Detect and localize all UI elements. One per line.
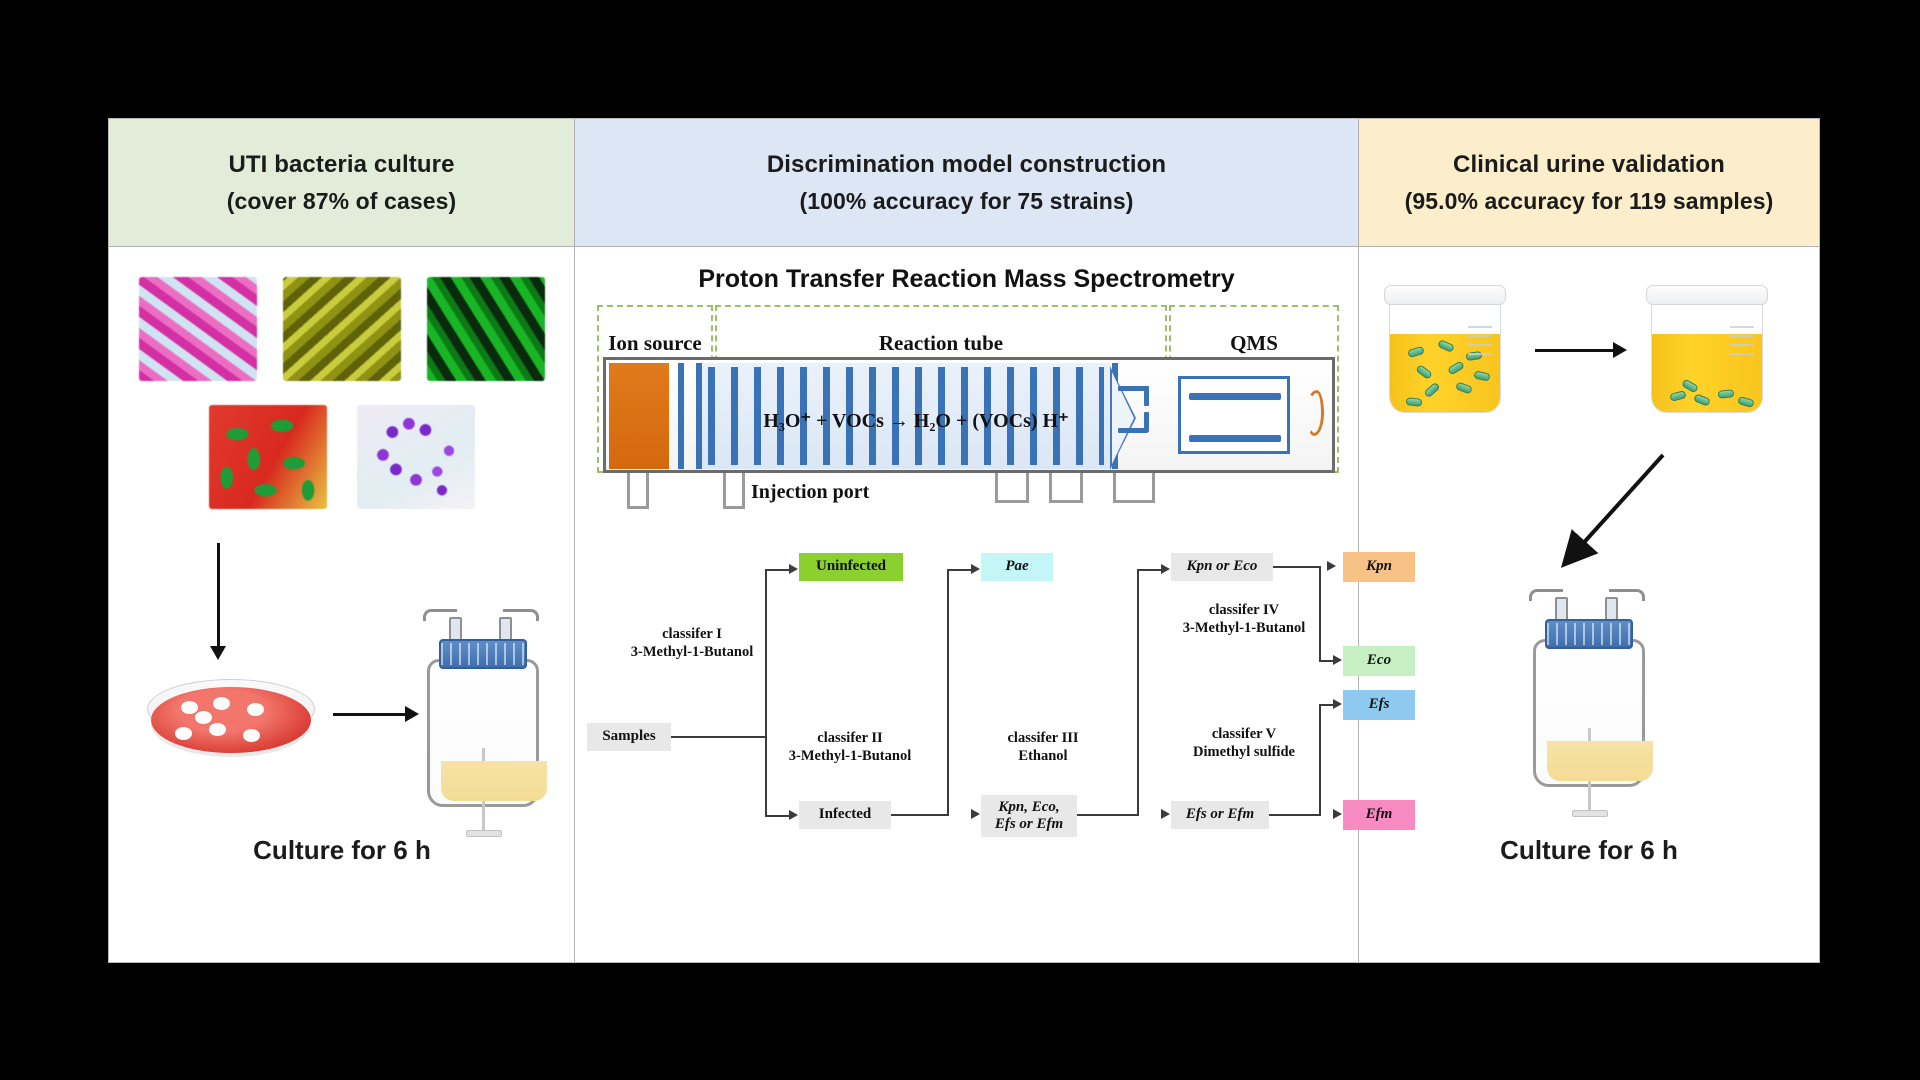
panel-body-left: Culture for 6 h: [109, 247, 574, 962]
node-kpn-eco-efs-efm: Kpn, Eco, Efs or Efm: [981, 795, 1077, 837]
arrowhead-efm: [1333, 809, 1342, 819]
panel-title-mid: Discrimination model construction: [767, 151, 1166, 179]
instrument-housing: H₃O⁺ + VOCs → H₂O + (VOCs) H⁺: [603, 357, 1335, 473]
ptrms-schematic: Ion source Reaction tube QMS H₃O⁺ + VOCs…: [597, 305, 1339, 505]
region-label-reaction-tube: Reaction tube: [717, 331, 1165, 356]
classifier-3-name: classifer III: [945, 729, 1141, 747]
caption-culture-right: Culture for 6 h: [1359, 835, 1819, 866]
micrograph-row-bottom: [127, 405, 557, 509]
node-pae: Pae: [981, 553, 1053, 581]
quad-rod-bottom: [1189, 435, 1281, 442]
injection-port-label: Injection port: [751, 481, 869, 504]
bottle-body-2: [1533, 639, 1645, 787]
classifier-5-marker: Dimethyl sulfide: [1159, 743, 1329, 761]
classifier-3-label: classifer III Ethanol: [945, 729, 1141, 765]
classifier-2-label: classifer II 3-Methyl-1-Butanol: [757, 729, 943, 765]
instrument-leg-5: [1113, 473, 1155, 503]
classifier-1-name: classifer I: [617, 625, 767, 643]
edge-c2-to-pae: [947, 569, 973, 571]
bottle-body: [427, 659, 539, 807]
arrowhead-pae: [971, 564, 980, 574]
edge-fourgroup-trunk: [1077, 814, 1139, 816]
classifier-2-name: classifer II: [757, 729, 943, 747]
edge-c5-vertical: [1319, 704, 1321, 816]
edge-kpneco-trunk: [1273, 566, 1321, 568]
panel-title-left: UTI bacteria culture: [228, 151, 454, 179]
bottle-cap-ridges-2: [1547, 623, 1631, 645]
node-kpn-or-eco: Kpn or Eco: [1171, 553, 1273, 581]
cup-graduation-ticks-1: [1468, 326, 1492, 360]
arrowhead-eco: [1333, 655, 1342, 665]
region-label-qms: QMS: [1171, 331, 1337, 356]
classifier-4-label: classifer IV 3-Methyl-1-Butanol: [1159, 601, 1329, 637]
olive-rods-micrograph: [283, 277, 401, 381]
purple-cocci-micrograph: [357, 405, 475, 509]
instrument-leg-2: [723, 473, 745, 509]
bottle-cap-ridges: [441, 643, 525, 665]
panel-body-mid: Proton Transfer Reaction Mass Spectromet…: [575, 247, 1358, 962]
four-group-line-1: Kpn, Eco,: [998, 799, 1059, 816]
right-arrow-icon-validation: [1535, 349, 1615, 352]
micrograph-row-top: [127, 277, 557, 381]
bottle-liquid-2: [1547, 741, 1653, 781]
gas-washing-bottle-left: [419, 597, 547, 807]
bottle-liquid: [441, 761, 547, 801]
right-arrow-icon: [333, 713, 407, 716]
arrowhead-four-group: [971, 809, 980, 819]
edge-c3-vertical: [1137, 569, 1139, 816]
magenta-rods-micrograph: [139, 277, 257, 381]
node-efs-or-efm: Efs or Efm: [1171, 801, 1269, 829]
petri-dish: [151, 677, 311, 759]
electrode-plate-1: [678, 363, 684, 469]
quadrupole-mass-filter: [1178, 376, 1290, 454]
green-rods-micrograph: [427, 277, 545, 381]
instrument-leg-4: [1049, 473, 1083, 503]
panel-header-left: UTI bacteria culture (cover 87% of cases…: [109, 119, 574, 247]
edge-c1-to-infected: [765, 815, 791, 817]
ion-source-block: [609, 363, 669, 469]
edge-infected-trunk: [891, 814, 949, 816]
classifier-5-label: classifer V Dimethyl sulfide: [1159, 725, 1329, 761]
arrowhead-kpn-or-eco: [1161, 564, 1170, 574]
ion-optics-lens: [1118, 372, 1160, 460]
panel-body-right: Culture for 6 h: [1359, 247, 1819, 962]
urine-cup-vessel-1: [1389, 299, 1501, 413]
down-arrow-icon: [217, 543, 220, 647]
classifier-4-marker: 3-Methyl-1-Butanol: [1159, 619, 1329, 637]
edge-efsefm-trunk: [1269, 814, 1321, 816]
classifier-4-name: classifer IV: [1159, 601, 1329, 619]
quad-rod-top: [1189, 393, 1281, 400]
urine-cup-before: [1389, 285, 1501, 413]
caption-culture-left: Culture for 6 h: [109, 835, 575, 866]
urine-cup-rim-1: [1384, 285, 1506, 305]
region-label-ion-source: Ion source: [599, 331, 711, 356]
instrument-leg-3: [995, 473, 1029, 503]
panel-subtitle-right: (95.0% accuracy for 119 samples): [1405, 188, 1774, 215]
gas-washing-bottle-right: [1525, 577, 1653, 787]
arrowhead-efs-or-efm: [1161, 809, 1170, 819]
urine-cup-vessel-2: [1651, 299, 1763, 413]
graphical-abstract: UTI bacteria culture (cover 87% of cases…: [108, 118, 1820, 963]
node-infected: Infected: [799, 801, 891, 829]
edge-c4-vertical: [1319, 566, 1321, 662]
green-diplococci-micrograph: [209, 405, 327, 509]
node-uninfected: Uninfected: [799, 553, 903, 581]
edge-c1-to-uninfected: [765, 569, 791, 571]
cup-graduation-ticks-2: [1730, 326, 1754, 360]
node-samples: Samples: [587, 723, 671, 751]
panel-title-right: Clinical urine validation: [1453, 151, 1725, 179]
ptr-reaction-equation: H₃O⁺ + VOCs → H₂O + (VOCs) H⁺: [716, 408, 1116, 433]
panel-uti-bacteria-culture: UTI bacteria culture (cover 87% of cases…: [109, 119, 575, 962]
instrument-leg-1: [627, 473, 649, 509]
panel-header-right: Clinical urine validation (95.0% accurac…: [1359, 119, 1819, 247]
panel-subtitle-mid: (100% accuracy for 75 strains): [799, 188, 1133, 215]
classifier-3-marker: Ethanol: [945, 747, 1141, 765]
petri-colonies: [151, 687, 311, 753]
panel-clinical-urine-validation: Clinical urine validation (95.0% accurac…: [1359, 119, 1819, 962]
edge-c2-vertical: [947, 569, 949, 816]
edge-c3-to-kpn-eco: [1137, 569, 1163, 571]
classifier-2-marker: 3-Methyl-1-Butanol: [757, 747, 943, 765]
panel-subtitle-left: (cover 87% of cases): [227, 188, 457, 215]
arrowhead-kpn: [1327, 561, 1336, 571]
bottle-frit-2: [1572, 810, 1608, 817]
edge-c1-vertical: [765, 569, 767, 817]
four-group-line-2: Efs or Efm: [995, 816, 1063, 833]
arrowhead-infected: [789, 810, 798, 820]
detector-icon: [1306, 390, 1324, 436]
diagonal-arrow-icon: [1545, 447, 1705, 587]
decision-tree: Samples classifer I 3-Methyl-1-Butanol U…: [575, 547, 1359, 947]
arrowhead-efs: [1333, 699, 1342, 709]
panel-header-mid: Discrimination model construction (100% …: [575, 119, 1358, 247]
panel-discrimination-model: Discrimination model construction (100% …: [575, 119, 1359, 962]
arrowhead-uninfected: [789, 564, 798, 574]
urine-cup-after: [1651, 285, 1763, 413]
classifier-1-marker: 3-Methyl-1-Butanol: [617, 643, 767, 661]
classifier-1-label: classifer I 3-Methyl-1-Butanol: [617, 625, 767, 661]
ptrms-title: Proton Transfer Reaction Mass Spectromet…: [575, 265, 1358, 294]
classifier-5-name: classifer V: [1159, 725, 1329, 743]
urine-cup-rim-2: [1646, 285, 1768, 305]
edge-samples-trunk: [671, 736, 767, 738]
